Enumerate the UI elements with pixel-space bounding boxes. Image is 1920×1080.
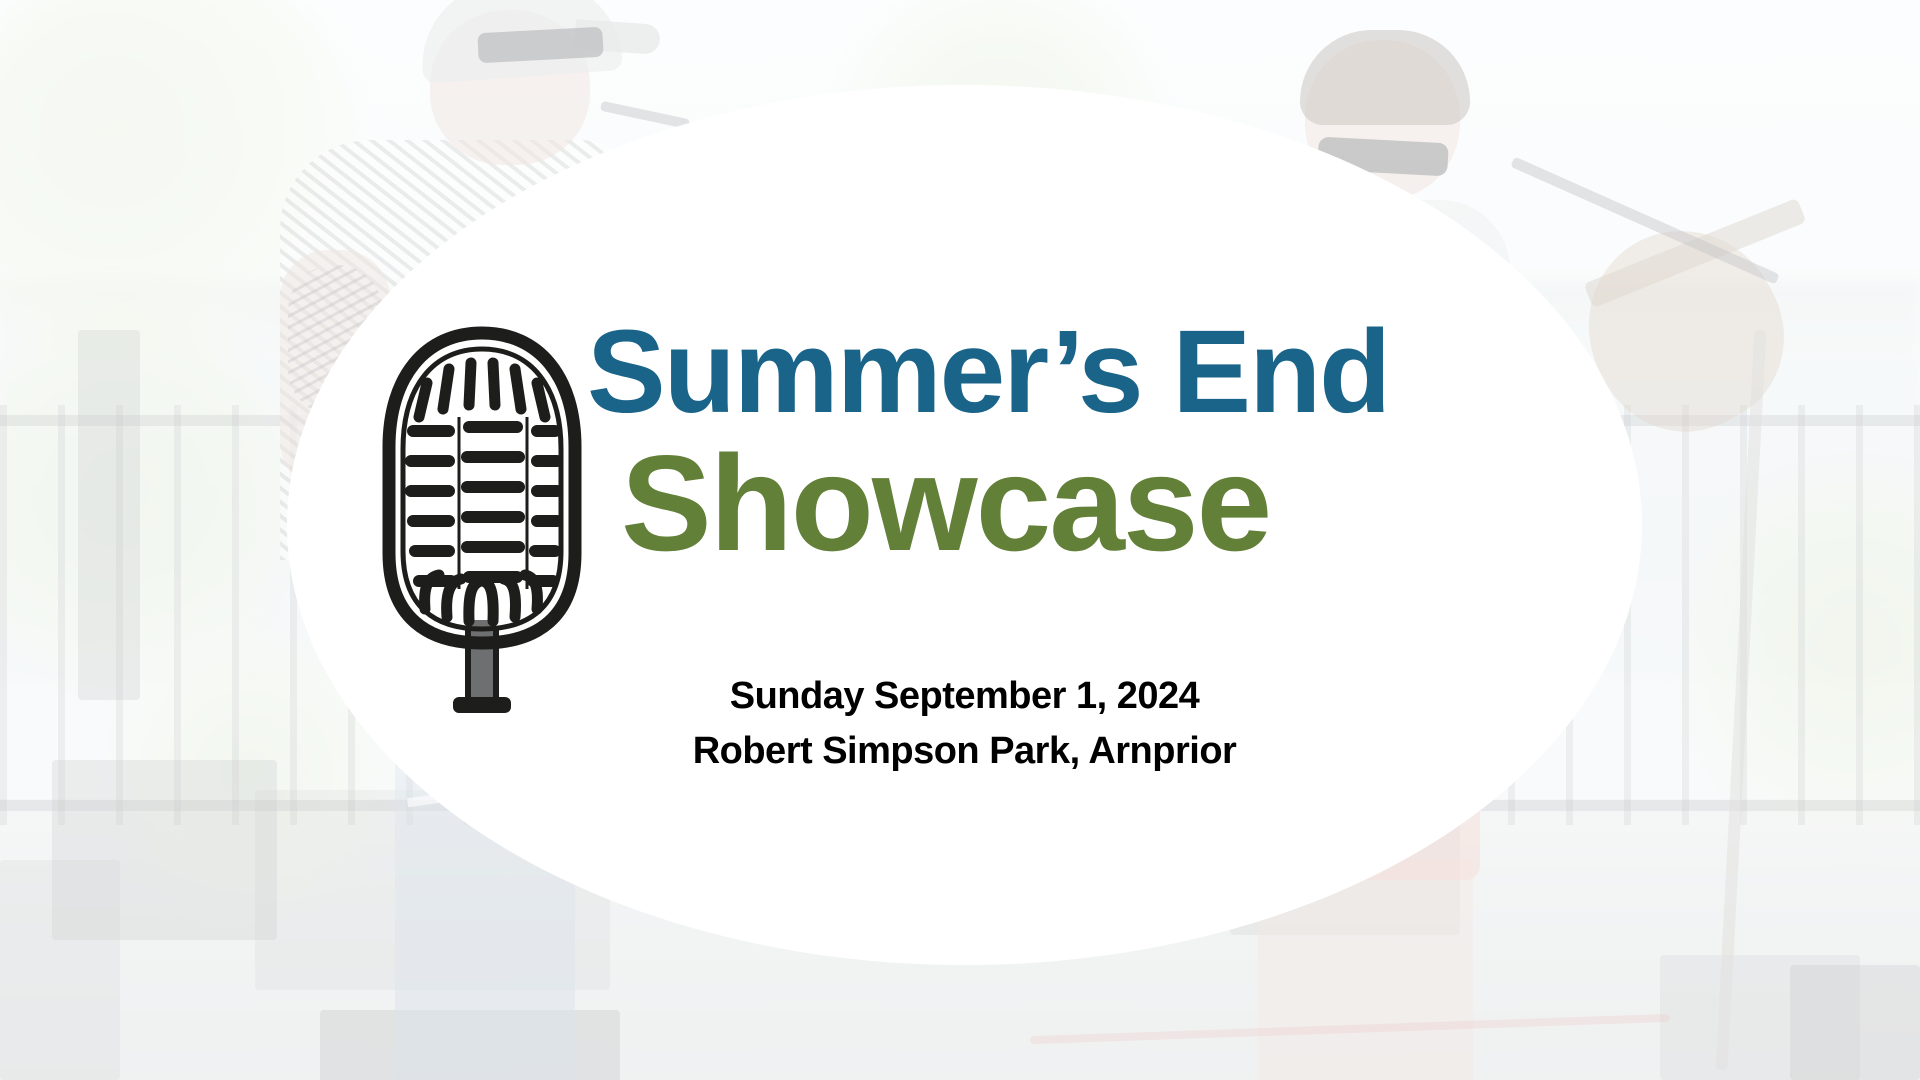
title-block: Summer’s End Showcase [587, 315, 1607, 570]
poster-content: Summer’s End Showcase Sunday September 1… [287, 85, 1642, 965]
event-date: Sunday September 1, 2024 [287, 675, 1642, 718]
title-line-summers-end: Summer’s End [587, 315, 1607, 431]
event-poster: Summer’s End Showcase Sunday September 1… [0, 0, 1920, 1080]
title-line-showcase: Showcase [621, 437, 1607, 570]
event-details: Sunday September 1, 2024 Robert Simpson … [287, 675, 1642, 773]
retro-microphone-icon [367, 325, 597, 725]
event-location: Robert Simpson Park, Arnprior [287, 730, 1642, 773]
